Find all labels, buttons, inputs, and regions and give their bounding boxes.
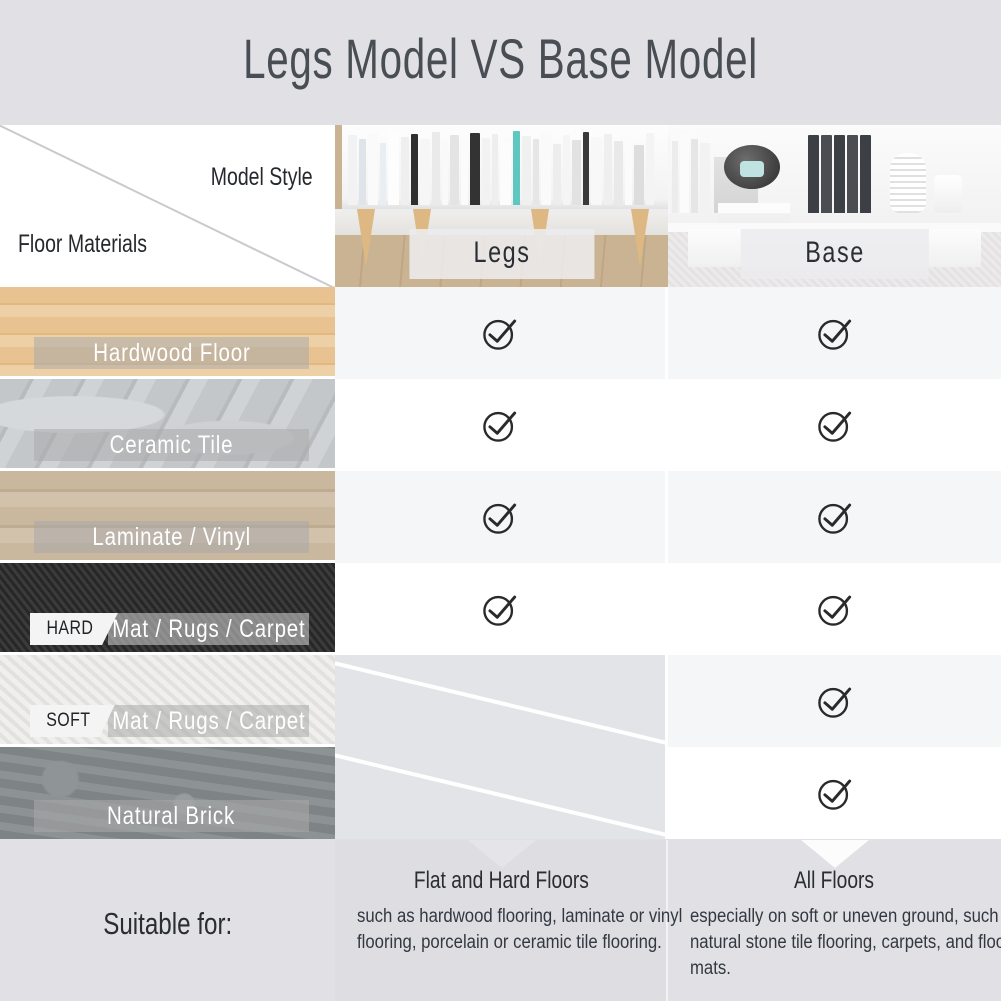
check-circle-icon [813, 587, 857, 631]
legs-column-label: Legs [409, 229, 594, 279]
suitable-for-label: Suitable for: [0, 906, 335, 942]
material-label: Natural Brick [108, 802, 236, 831]
page-title: Legs Model VS Base Model [140, 26, 861, 91]
material-label: Mat / Rugs / Carpet [112, 707, 305, 736]
check-circle-icon [813, 495, 857, 539]
title-bar: Legs Model VS Base Model [0, 0, 1001, 125]
check-circle-icon [813, 679, 857, 723]
material-label-band: Mat / Rugs / Carpet [108, 613, 309, 645]
check-circle-icon [813, 311, 857, 355]
footer-legs-heading: Flat and Hard Floors [335, 867, 668, 895]
table-header-row: Model Style Floor Materials [0, 125, 1001, 287]
table-row: Hardwood Floor [0, 287, 1001, 379]
base-column-label: Base [740, 229, 928, 279]
material-label-band: Ceramic Tile [34, 429, 309, 461]
material-label: Laminate / Vinyl [92, 523, 251, 552]
material-cell-hard-carpet: HARD Mat / Rugs / Carpet [0, 563, 335, 655]
wooden-leg [631, 209, 649, 267]
material-label-band: Hardwood Floor [34, 337, 309, 369]
table-row: Laminate / Vinyl [0, 471, 1001, 563]
footer-legs-column: Flat and Hard Floors such as hardwood fl… [335, 840, 668, 1001]
material-cell-ceramic: Ceramic Tile [0, 379, 335, 471]
base-header-photo: Base [668, 125, 1001, 287]
footer-base-column: All Floors especially on soft or uneven … [668, 840, 1001, 1001]
table-row: HARD Mat / Rugs / Carpet [0, 563, 1001, 655]
table-row: Ceramic Tile [0, 379, 1001, 471]
table-row: Natural Brick [0, 747, 1001, 839]
comparison-table: Model Style Floor Materials [0, 125, 1001, 840]
material-cell-laminate: Laminate / Vinyl [0, 471, 335, 563]
cell-base-soft-carpet [668, 655, 1001, 747]
check-circle-icon [478, 587, 522, 631]
material-label: Ceramic Tile [110, 431, 234, 460]
diagonal-strike-icon [335, 659, 668, 746]
cell-base-ceramic [668, 379, 1001, 471]
cell-base-hardwood [668, 287, 1001, 379]
corner-header-cell: Model Style Floor Materials [0, 125, 335, 287]
table-row: SOFT Mat / Rugs / Carpet [0, 655, 1001, 747]
comparison-infographic: Legs Model VS Base Model Model Style Flo… [0, 0, 1001, 1001]
check-circle-icon [478, 311, 522, 355]
cell-base-hard-carpet [668, 563, 1001, 655]
cell-legs-ceramic [335, 379, 668, 471]
material-cell-hardwood: Hardwood Floor [0, 287, 335, 379]
legs-header-photo: Legs [335, 125, 668, 287]
footer-base-heading: All Floors [668, 867, 1001, 895]
footer-section: Suitable for: Flat and Hard Floors such … [0, 840, 1001, 1001]
material-cell-brick: Natural Brick [0, 747, 335, 839]
diagonal-strike-icon [335, 751, 668, 838]
cell-legs-hardwood [335, 287, 668, 379]
material-cell-soft-carpet: SOFT Mat / Rugs / Carpet [0, 655, 335, 747]
cell-legs-brick [335, 747, 668, 839]
footer-legs-description: such as hardwood flooring, laminate or v… [357, 904, 688, 956]
material-label-band: Natural Brick [34, 800, 309, 832]
material-label: Mat / Rugs / Carpet [112, 615, 305, 644]
check-circle-icon [478, 403, 522, 447]
cell-base-laminate [668, 471, 1001, 563]
corner-diagonal-divider [0, 125, 335, 287]
cell-legs-laminate [335, 471, 668, 563]
material-label-band: Laminate / Vinyl [34, 521, 309, 553]
material-label-band: Mat / Rugs / Carpet [108, 705, 309, 737]
footer-base-description: especially on soft or uneven ground, suc… [690, 904, 1001, 982]
check-circle-icon [478, 495, 522, 539]
cell-legs-soft-carpet [335, 655, 668, 747]
check-circle-icon [813, 403, 857, 447]
floor-materials-label: Floor Materials [18, 230, 147, 259]
shelf-body [668, 125, 1001, 232]
shelf-body [342, 125, 668, 214]
check-circle-icon [813, 771, 857, 815]
cell-legs-hard-carpet [335, 563, 668, 655]
model-style-label: Model Style [211, 163, 313, 192]
wooden-leg [357, 209, 375, 267]
cell-base-brick [668, 747, 1001, 839]
material-label: Hardwood Floor [93, 339, 250, 368]
